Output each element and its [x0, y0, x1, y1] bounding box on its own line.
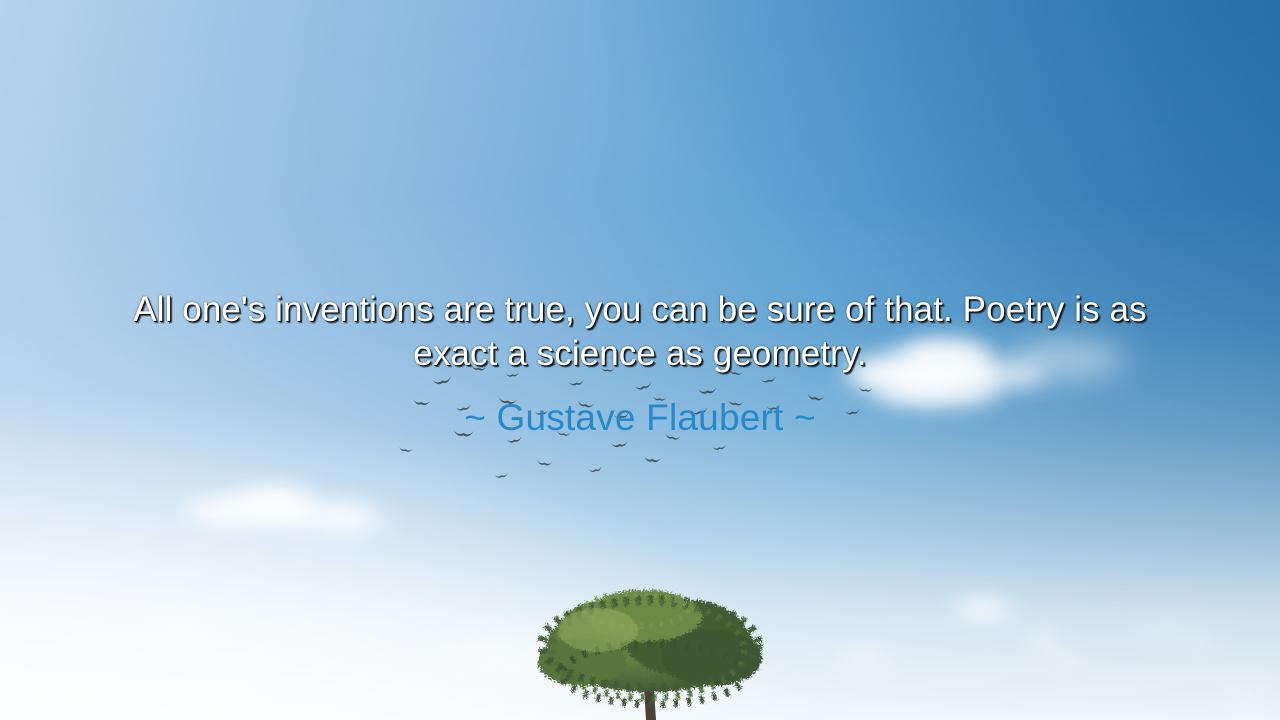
- oak-tree: [536, 584, 768, 720]
- quote-attribution: ~ Gustave Flaubert ~: [90, 396, 1190, 440]
- quote-text: All one's inventions are true, you can b…: [90, 288, 1190, 376]
- tree-highlight: [558, 608, 638, 652]
- quote-block: All one's inventions are true, you can b…: [0, 288, 1280, 440]
- bird-icon: [643, 454, 663, 466]
- bird-icon: [610, 439, 630, 451]
- quote-wallpaper: All one's inventions are true, you can b…: [0, 0, 1280, 720]
- bird-icon: [536, 458, 554, 469]
